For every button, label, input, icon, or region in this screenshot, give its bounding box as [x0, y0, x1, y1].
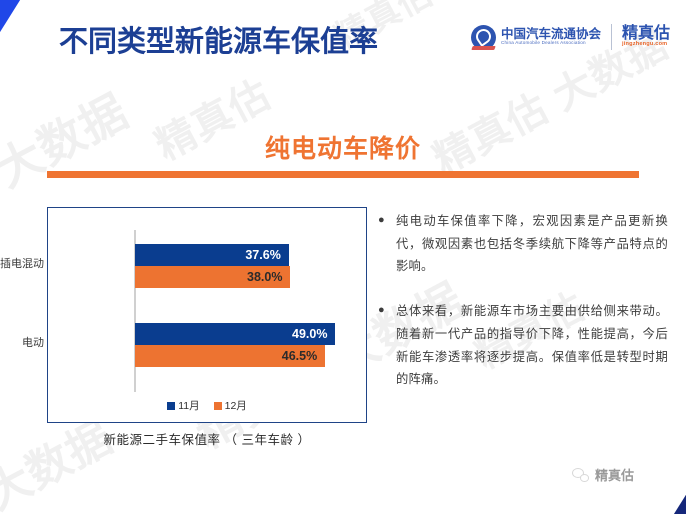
chart-caption: 新能源二手车保值率 （ 三年车龄 ）	[47, 429, 367, 448]
list-item: ● 总体来看，新能源车市场主要由供给侧来带动。随着新一代产品的指导价下降，性能提…	[378, 300, 668, 391]
legend-swatch-icon	[214, 402, 222, 410]
cada-logo: 中国汽车流通协会 China Automobile Dealers Associ…	[471, 25, 601, 50]
slide-header: 不同类型新能源车保值率 中国汽车流通协会 China Automobile De…	[0, 0, 686, 78]
bar-phev-dec: 38.0%	[135, 266, 290, 288]
cada-name-en: China Automobile Dealers Association	[501, 41, 601, 46]
chart-category-label: 电动	[22, 334, 44, 350]
legend-item-dec: 12月	[214, 398, 247, 413]
cada-swoosh-icon	[471, 25, 496, 50]
legend-item-nov: 11月	[167, 398, 199, 413]
section-title: 纯电动车降价	[0, 129, 686, 165]
bar-bev-dec: 46.5%	[135, 345, 325, 367]
bullet-text: 总体来看，新能源车市场主要由供给侧来带动。随着新一代产品的指导价下降，性能提高，…	[396, 300, 668, 391]
footer-brand: 精真估	[572, 465, 634, 484]
wechat-icon	[572, 468, 589, 482]
jingzhengu-logo: 精真估 jingzhengu.com	[622, 26, 670, 49]
legend-swatch-icon	[167, 402, 175, 410]
bar-value-label: 46.5%	[282, 349, 325, 363]
bullet-text: 纯电动车保值率下降，宏观因素是产品更新换代，微观因素也包括冬季续航下降等产品特点…	[396, 210, 668, 278]
brand-divider	[611, 24, 612, 50]
bar-phev-nov: 37.6%	[135, 244, 289, 266]
slide-canvas: 大数据 精真估 精真估 大数据 精真估 大数据 大数据 精真估 精真估 不同类型…	[0, 0, 686, 514]
section-divider	[47, 171, 639, 178]
footer-brand-name: 精真估	[595, 465, 634, 484]
bar-value-label: 49.0%	[292, 327, 335, 341]
bar-value-label: 37.6%	[245, 248, 288, 262]
chart-category-label: 插电混动	[0, 255, 44, 271]
bullet-dot-icon: ●	[378, 300, 396, 391]
chart-panel: 插电混动 电动 37.6% 38.0% 49.0% 46.5% 11月	[47, 207, 367, 423]
insight-bullet-list: ● 纯电动车保值率下降，宏观因素是产品更新换代，微观因素也包括冬季续航下降等产品…	[378, 210, 668, 413]
chart-plot-area: 插电混动 电动 37.6% 38.0% 49.0% 46.5% 11月	[48, 208, 366, 422]
legend-label: 12月	[225, 398, 247, 413]
jingzhengu-name-cn: 精真估	[622, 26, 670, 43]
jingzhengu-url: jingzhengu.com	[622, 42, 667, 48]
bullet-dot-icon: ●	[378, 210, 396, 278]
legend-label: 11月	[178, 398, 199, 413]
chart-legend: 11月 12月	[48, 398, 366, 413]
bar-bev-nov: 49.0%	[135, 323, 335, 345]
brand-bar: 中国汽车流通协会 China Automobile Dealers Associ…	[471, 24, 670, 50]
page-title: 不同类型新能源车保值率	[59, 18, 378, 60]
bar-value-label: 38.0%	[247, 270, 290, 284]
list-item: ● 纯电动车保值率下降，宏观因素是产品更新换代，微观因素也包括冬季续航下降等产品…	[378, 210, 668, 278]
